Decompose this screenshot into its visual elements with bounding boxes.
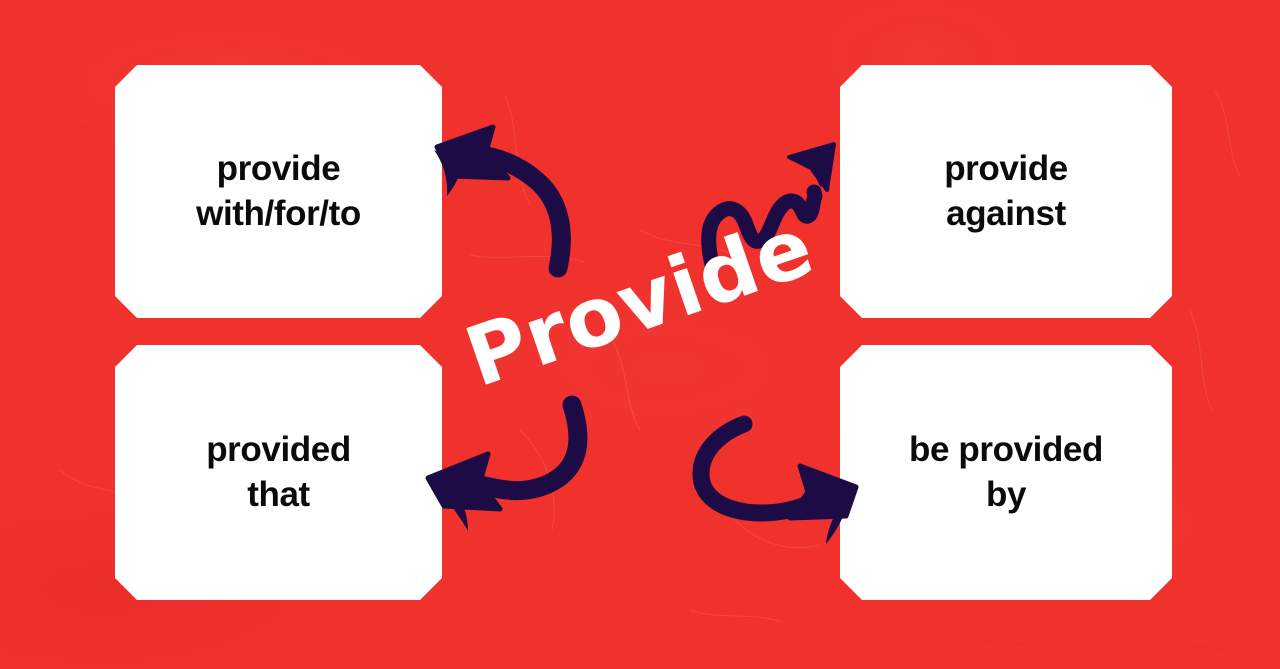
zigzag-arrow-up-right-icon xyxy=(709,144,834,265)
center-word: Provide xyxy=(438,199,843,407)
poster-canvas: provide with/for/to provide against prov… xyxy=(0,0,1280,669)
curved-arrow-left-icon xyxy=(434,127,561,268)
curved-arrow-left-icon-bottom xyxy=(428,405,578,531)
card-provided-that[interactable]: provided that xyxy=(115,345,442,600)
card-label-provide-with-for-to: provide with/for/to xyxy=(178,147,379,237)
card-label-be-provided-by: be provided by xyxy=(891,428,1121,518)
card-provide-against[interactable]: provide against xyxy=(840,65,1172,318)
card-label-provided-that: provided that xyxy=(188,428,369,518)
curved-arrow-right-icon xyxy=(701,424,856,544)
card-be-provided-by[interactable]: be provided by xyxy=(840,345,1172,600)
card-label-provide-against: provide against xyxy=(926,147,1086,237)
card-provide-with-for-to[interactable]: provide with/for/to xyxy=(115,65,442,318)
